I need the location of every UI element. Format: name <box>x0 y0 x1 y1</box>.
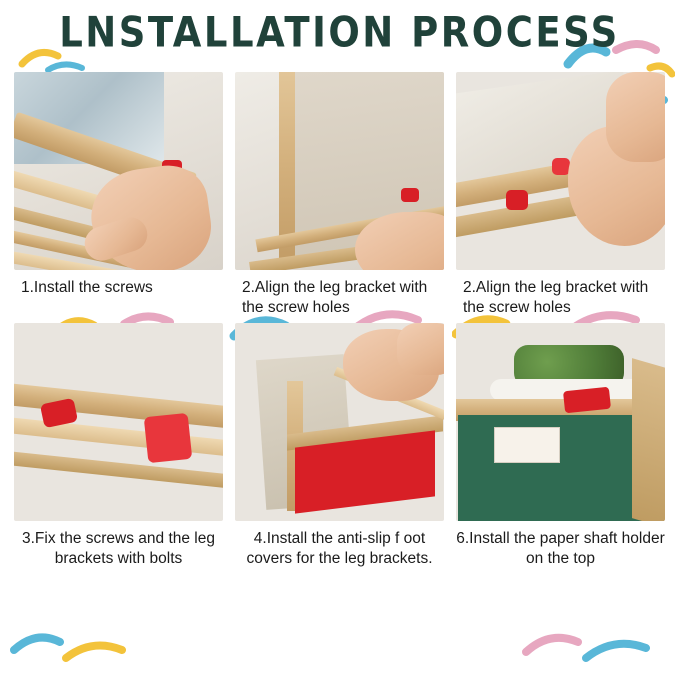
step-5-caption: 4.Install the anti-slip f oot covers for… <box>235 529 444 570</box>
paint-splash-bottom-right <box>520 618 670 670</box>
step-1-caption: 1.Install the screws <box>7 278 230 298</box>
step-1-photo <box>14 72 223 270</box>
step-card-6: 6.Install the paper shaft holder on the … <box>450 323 671 570</box>
step-card-5: 4.Install the anti-slip f oot covers for… <box>229 323 450 570</box>
step-3-caption: 2.Align the leg bracket with the screw h… <box>449 278 672 319</box>
step-card-3: 2.Align the leg bracket with the screw h… <box>450 72 671 319</box>
red-bolt-center <box>144 413 193 463</box>
forearm <box>606 72 665 162</box>
page-title-container: LNSTALLATION PROCESS <box>0 14 679 51</box>
product-label <box>494 427 560 463</box>
step-4-photo <box>14 323 223 521</box>
step-card-2: 2.Align the leg bracket with the screw h… <box>229 72 450 319</box>
side-frame <box>632 358 665 521</box>
step-card-1: 1.Install the screws <box>8 72 229 319</box>
step-4-caption: 3.Fix the screws and the leg brackets wi… <box>14 529 223 570</box>
step-5-photo <box>235 323 444 521</box>
paint-splash-bottom-left <box>10 620 150 670</box>
step-card-4: 3.Fix the screws and the leg brackets wi… <box>8 323 229 570</box>
step-6-photo <box>456 323 665 521</box>
step-3-photo <box>456 72 665 270</box>
step-6-caption: 6.Install the paper shaft holder on the … <box>456 529 665 570</box>
red-shaft-holder <box>563 387 611 414</box>
page-title: LNSTALLATION PROCESS <box>59 12 620 53</box>
step-2-photo <box>235 72 444 270</box>
step-2-caption: 2.Align the leg bracket with the screw h… <box>228 278 451 319</box>
red-knob <box>401 188 419 202</box>
red-knob-left <box>506 190 528 210</box>
forearm <box>397 323 444 375</box>
steps-grid: 1.Install the screws 2.Align the leg bra… <box>8 72 671 570</box>
